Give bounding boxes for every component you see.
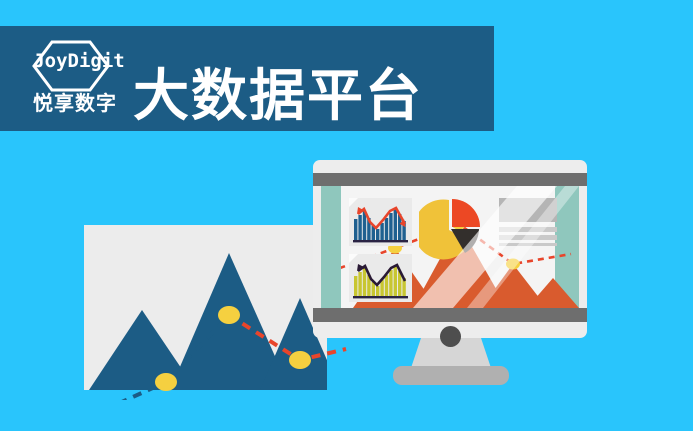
screen-left-band bbox=[321, 186, 341, 308]
mountain-chart-panel bbox=[84, 225, 327, 390]
pie-chart bbox=[419, 196, 485, 260]
monitor-screen bbox=[321, 186, 579, 308]
bar-chart-card-blue bbox=[349, 198, 412, 246]
monitor-power-button[interactable] bbox=[440, 326, 461, 347]
screen-marker-dot-3 bbox=[506, 259, 520, 270]
text-placeholder-block bbox=[499, 198, 559, 246]
blue-mountain-shapes bbox=[84, 225, 327, 390]
page-title: 大数据平台 bbox=[133, 68, 423, 124]
monitor bbox=[313, 160, 587, 338]
brand-logo: JoyDigit 悦享数字 bbox=[16, 38, 126, 122]
monitor-bottom-bar bbox=[313, 308, 587, 322]
monitor-top-bar bbox=[313, 173, 587, 186]
illustration-canvas: JoyDigit 悦享数字 大数据平台 bbox=[0, 0, 693, 431]
logo-chinese-name: 悦享数字 bbox=[16, 93, 134, 115]
logo-wordmark: JoyDigit bbox=[24, 52, 134, 71]
header-banner: JoyDigit 悦享数字 大数据平台 bbox=[0, 26, 494, 131]
bar-chart-card-yellow bbox=[349, 254, 412, 302]
